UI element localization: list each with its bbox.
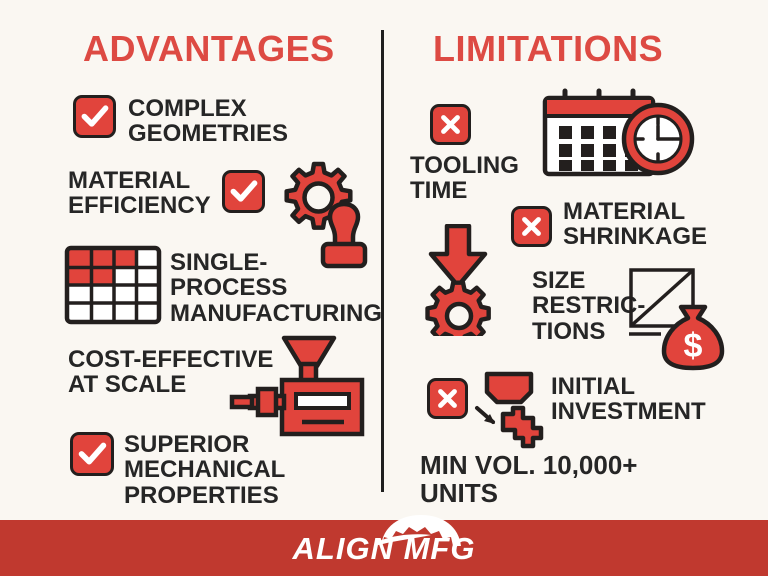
gear-arc-icon: [373, 513, 469, 552]
infographic-canvas: ADVANTAGES LIMITATIONS COMPLEX GEOMETRIE…: [0, 0, 768, 576]
check-box-icon: [73, 95, 116, 138]
svg-text:$: $: [684, 327, 703, 365]
calendar-clock-icon: [542, 88, 700, 178]
limitation-label-material-shrinkage: MATERIAL SHRINKAGE: [563, 199, 707, 250]
advantage-label-complex-geometries: COMPLEX GEOMETRIES: [128, 96, 288, 147]
limitation-label-tooling-time: TOOLING TIME: [410, 153, 519, 204]
grid-icon: [64, 245, 162, 325]
check-box-icon: [222, 170, 265, 213]
limitation-label-initial-investment: INITIAL INVESTMENT: [551, 374, 706, 425]
check-box-icon: [70, 432, 114, 476]
brand-logo: ALIGN MFG: [0, 520, 768, 576]
down-arrow-gear-icon: [414, 224, 506, 336]
x-box-icon: [511, 206, 552, 247]
advantages-title: ADVANTAGES: [83, 28, 335, 70]
advantage-label-superior-mechanical: SUPERIOR MECHANICAL PROPERTIES: [124, 432, 285, 508]
advantage-label-single-process: SINGLE- PROCESS MANUFACTURING: [170, 250, 382, 326]
money-bag-icon: $: [657, 303, 729, 371]
limitation-label-min-volume: MIN VOL. 10,000+ UNITS: [420, 452, 637, 507]
x-box-icon: [430, 104, 471, 145]
limitations-title: LIMITATIONS: [433, 28, 663, 70]
x-box-icon: [427, 378, 468, 419]
advantage-label-material-efficiency: MATERIAL EFFICIENCY: [68, 168, 211, 219]
extruder-machine-icon: [214, 334, 366, 440]
